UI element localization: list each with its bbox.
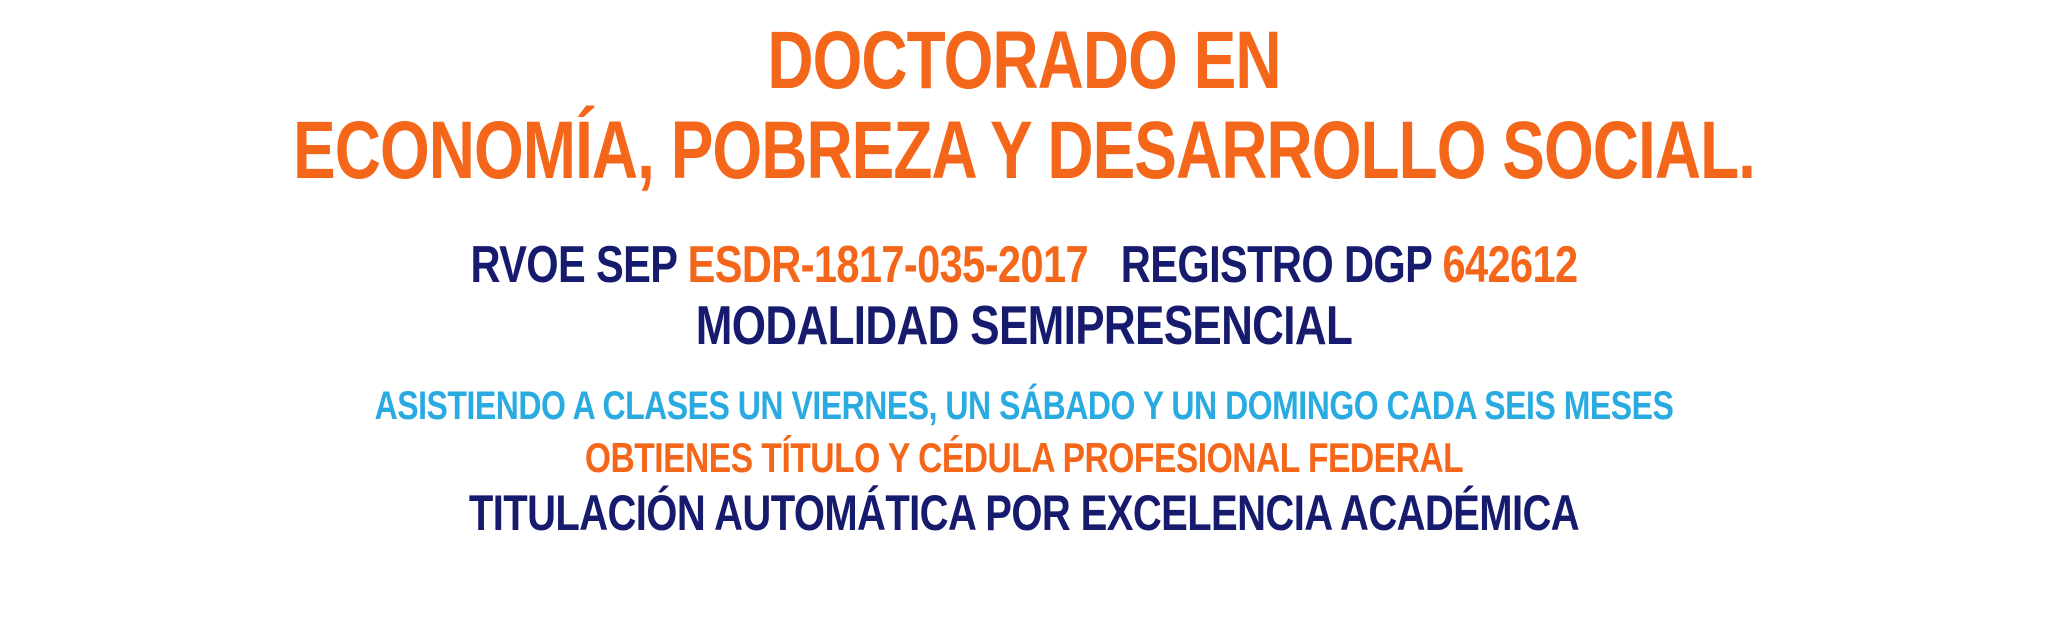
accreditation-gap [1088,236,1121,294]
rvoe-label: RVOE SEP [470,236,676,294]
program-title-line-2: ECONOMÍA, POBREZA Y DESARROLLO SOCIAL. [225,104,1822,198]
registro-dgp-label: REGISTRO DGP [1121,236,1432,294]
credential-line: OBTIENES TÍTULO Y CÉDULA PROFESIONAL FED… [205,434,1843,482]
program-promo-banner: DOCTORADO EN ECONOMÍA, POBREZA Y DESARRO… [0,0,2048,624]
modality-line: MODALIDAD SEMIPRESENCIAL [205,294,1843,356]
rvoe-value: ESDR-1817-035-2017 [688,236,1088,294]
schedule-line: ASISTIENDO A CLASES UN VIERNES, UN SÁBAD… [205,383,1843,429]
graduation-line: TITULACIÓN AUTOMÁTICA POR EXCELENCIA ACA… [205,484,1843,542]
program-title-line-1: DOCTORADO EN [225,14,1822,108]
accreditation-line: RVOE SEP ESDR-1817-035-2017 REGISTRO DGP… [205,236,1843,294]
registro-dgp-value: 642612 [1442,236,1577,294]
